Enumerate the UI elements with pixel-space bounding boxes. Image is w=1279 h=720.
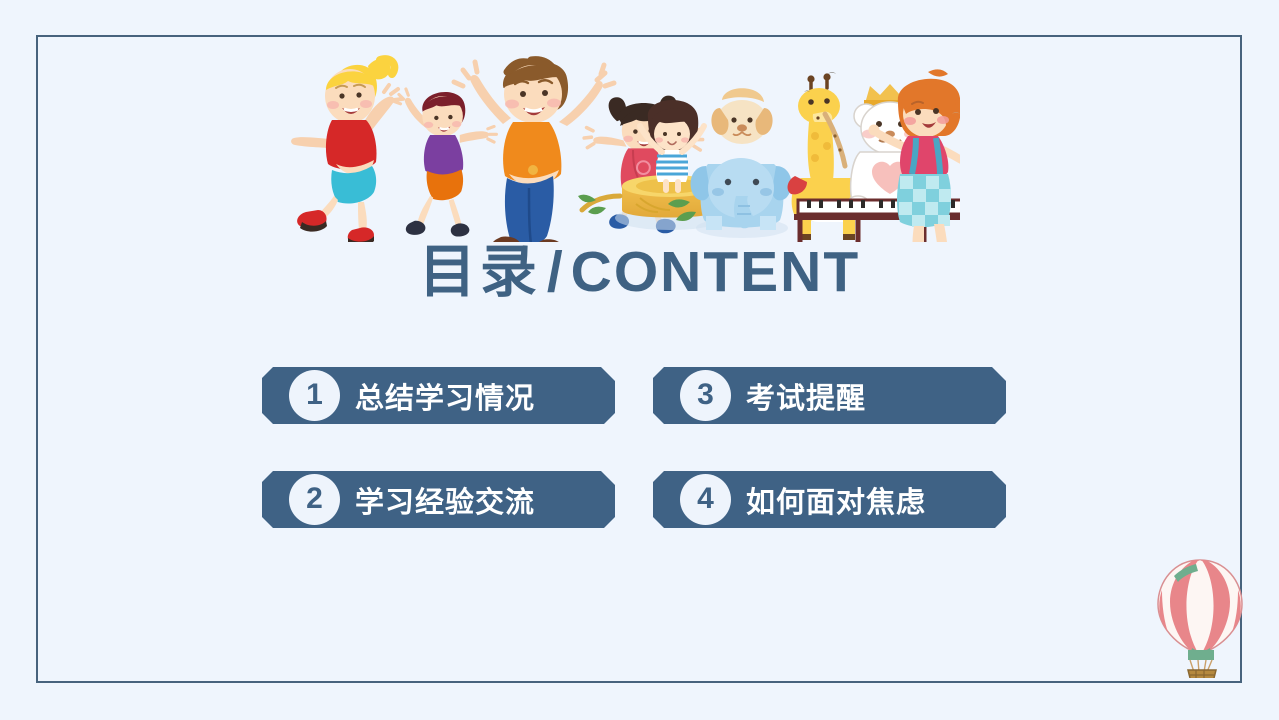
- menu-item-3[interactable]: 3 考试提醒: [653, 367, 1006, 424]
- menu-item-3-number: 3: [697, 380, 714, 410]
- menu-item-3-label: 考试提醒: [746, 367, 866, 424]
- jumping-children-illustration: [280, 52, 960, 242]
- menu-item-2-number: 2: [306, 484, 323, 514]
- menu-item-2-number-badge: 2: [289, 474, 340, 525]
- title-separator: /: [541, 240, 571, 304]
- title-chinese: 目录: [419, 240, 541, 304]
- menu-row-bottom: 2 学习经验交流 4 如何面对焦虑: [262, 471, 1007, 528]
- menu-item-4-number: 4: [697, 484, 714, 514]
- menu-item-4[interactable]: 4 如何面对焦虑: [653, 471, 1006, 528]
- menu-item-4-number-badge: 4: [680, 474, 731, 525]
- menu-item-1-number: 1: [306, 380, 323, 410]
- menu-item-2[interactable]: 2 学习经验交流: [262, 471, 615, 528]
- page-title: 目录/CONTENT: [0, 243, 1279, 303]
- hot-air-balloon-icon: [1150, 556, 1250, 678]
- menu-item-3-number-badge: 3: [680, 370, 731, 421]
- title-english: CONTENT: [571, 240, 860, 304]
- menu-row-top: 1 总结学习情况 3 考试提醒: [262, 367, 1007, 424]
- content-menu: 1 总结学习情况 3 考试提醒 2 学习经验交流: [262, 367, 1007, 528]
- menu-item-1-number-badge: 1: [289, 370, 340, 421]
- menu-item-2-label: 学习经验交流: [355, 471, 535, 528]
- slide-canvas: 目录/CONTENT 1 总结学习情况 3 考试提醒: [0, 0, 1279, 720]
- menu-item-1-label: 总结学习情况: [355, 367, 535, 424]
- menu-item-4-label: 如何面对焦虑: [746, 471, 926, 528]
- menu-item-1[interactable]: 1 总结学习情况: [262, 367, 615, 424]
